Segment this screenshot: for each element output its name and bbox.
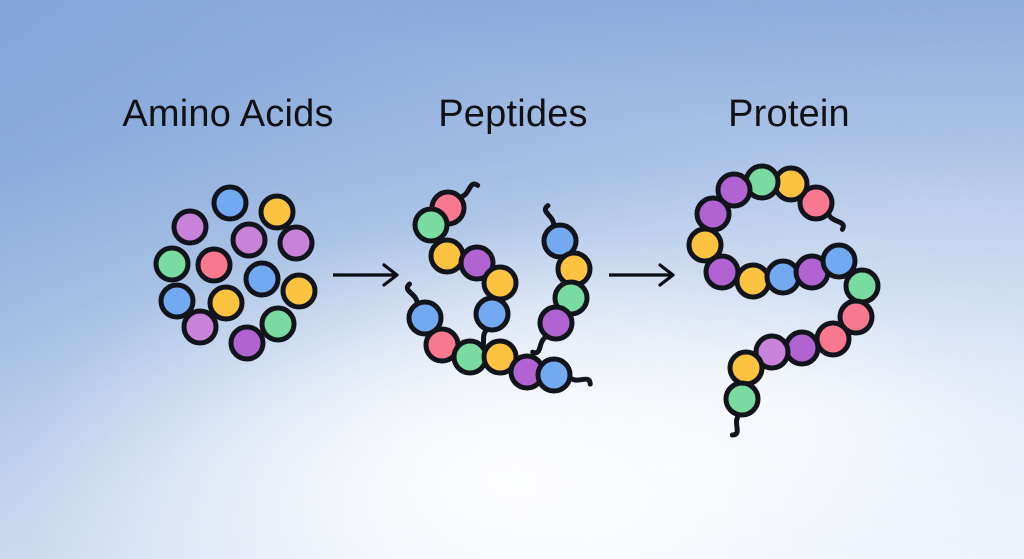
peptide-chain-1-node-5 <box>476 298 508 330</box>
illustration-canvas: Amino Acids Peptides Protein <box>0 0 1024 559</box>
peptide-chain-1-node-1 <box>415 209 447 241</box>
amino-acid-node-4 <box>280 227 312 259</box>
protein-chain-node-14 <box>786 332 818 364</box>
amino-acid-node-6 <box>198 249 230 281</box>
amino-acid-cluster <box>156 187 315 359</box>
amino-acid-node-0 <box>214 187 246 219</box>
stage-label-protein: Protein <box>728 95 850 133</box>
arrow-peptides-to-protein <box>609 265 673 285</box>
peptide-chain-1-node-4 <box>484 267 516 299</box>
stage-label-amino-acids: Amino Acids <box>122 95 333 133</box>
peptide-chain-3-node-2 <box>454 341 486 373</box>
amino-acid-node-5 <box>156 248 188 280</box>
protein-chain-node-6 <box>706 256 738 288</box>
amino-acid-node-13 <box>262 308 294 340</box>
protein-chain-node-13 <box>817 323 849 355</box>
protein-chain-node-7 <box>737 265 769 297</box>
amino-acid-node-10 <box>210 287 242 319</box>
peptide-chain-2 <box>533 206 590 353</box>
protein-chain-node-4 <box>697 198 729 230</box>
peptide-chain-2-node-3 <box>540 307 572 339</box>
amino-acid-node-11 <box>184 311 216 343</box>
peptide-group <box>407 184 590 391</box>
peptide-chain-3-node-5 <box>538 359 570 391</box>
amino-acid-node-7 <box>246 263 278 295</box>
amino-acid-node-8 <box>283 275 315 307</box>
protein-synthesis-diagram <box>0 0 1024 559</box>
protein-chain <box>689 166 878 435</box>
amino-acid-node-2 <box>174 211 206 243</box>
arrow-acids-to-peptides <box>333 265 397 285</box>
amino-acid-node-1 <box>261 196 293 228</box>
protein-group <box>689 166 878 435</box>
amino-acid-node-3 <box>233 224 265 256</box>
peptide-chain-1-node-2 <box>431 240 463 272</box>
amino-acid-node-12 <box>231 327 263 359</box>
protein-chain-node-17 <box>726 383 758 415</box>
amino-acid-node-9 <box>161 285 193 317</box>
protein-chain-node-16 <box>730 352 762 384</box>
protein-chain-node-11 <box>846 270 878 302</box>
stage-label-peptides: Peptides <box>438 95 587 133</box>
